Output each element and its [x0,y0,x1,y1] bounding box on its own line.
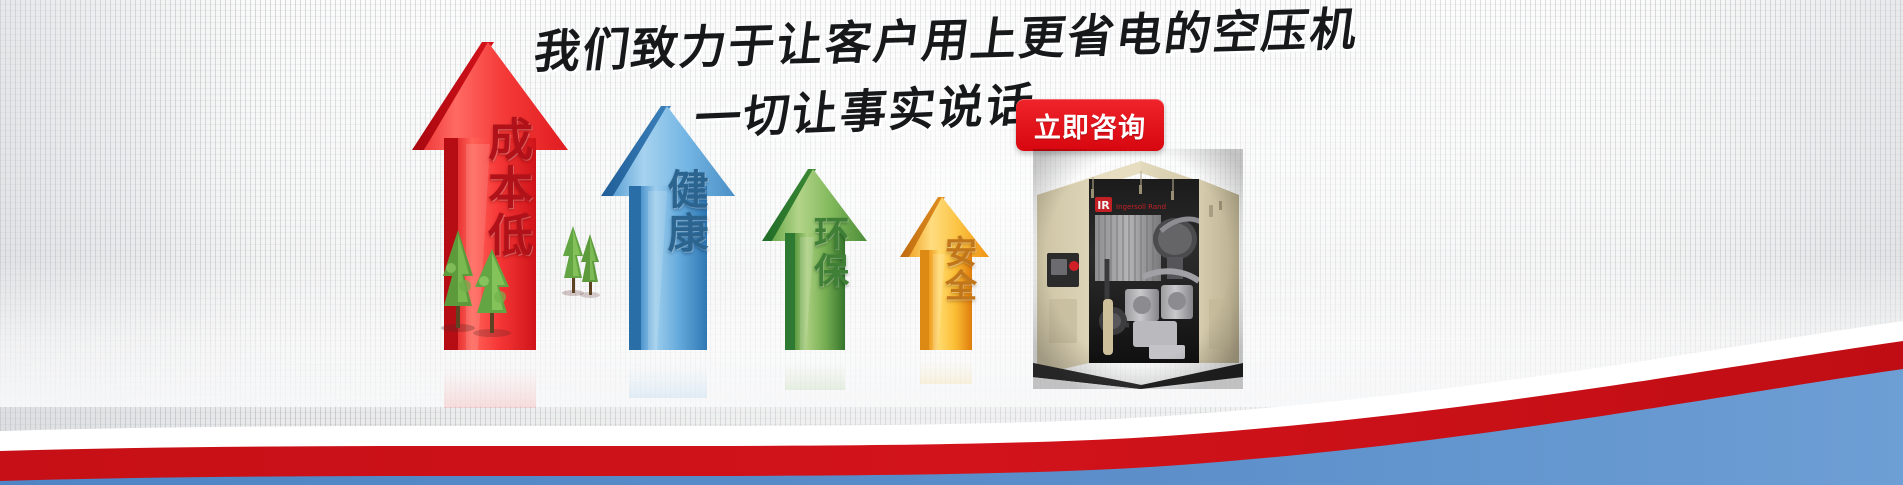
promo-banner: 成本低 [0,0,1903,485]
consult-now-button[interactable]: 立即咨询 [1016,99,1164,151]
arrow-cost-label: 成本低 [474,116,539,259]
consult-now-label: 立即咨询 [1034,106,1146,145]
arrow-eco-label: 环保 [803,215,854,289]
bottom-swoosh-bands [0,285,1903,485]
arrow-health-label: 健康 [654,168,714,255]
